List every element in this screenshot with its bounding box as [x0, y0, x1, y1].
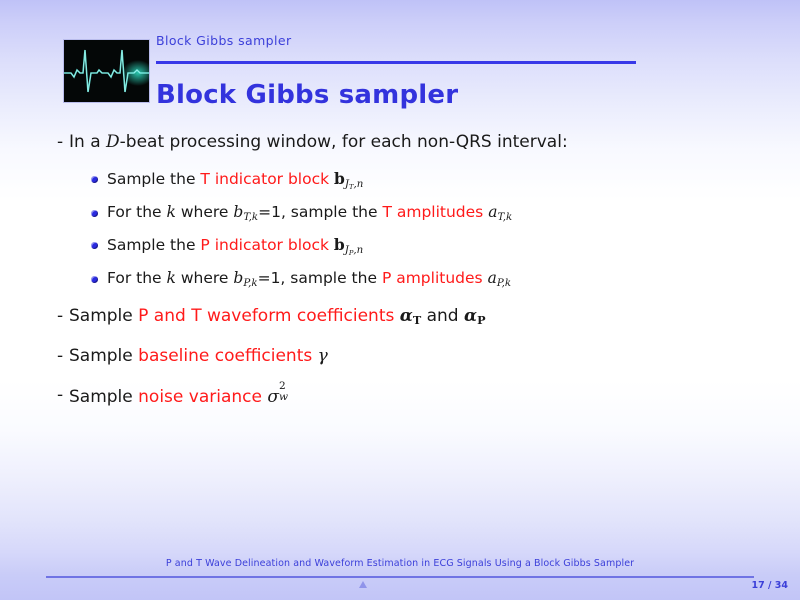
dash-marker: -: [57, 346, 63, 367]
list-item-text: For the k where bP,k=1, sample the P amp…: [91, 269, 511, 289]
intro-var-d: D: [106, 132, 120, 152]
header-divider: [156, 61, 636, 64]
item4-sigma-scripts: 2w: [279, 385, 289, 402]
list-item-intro: - In a D-beat processing window, for eac…: [0, 132, 800, 153]
spacer: [0, 288, 800, 306]
item2-alpha-p-sub: P: [477, 314, 485, 328]
item2-pre: Sample: [69, 306, 138, 326]
triangle-up-icon[interactable]: [359, 581, 367, 588]
list-item-sample-p-indicator: Sample the P indicator block bJP,n: [0, 235, 800, 256]
dash-marker: -: [57, 385, 63, 406]
spacer: [0, 153, 800, 169]
ecg-waveform-logo: [63, 39, 150, 103]
list-item-text: Sample the T indicator block bJT,n: [91, 169, 363, 190]
sub3-pre: Sample the: [107, 236, 200, 254]
list-item-sample-p-amplitudes: For the k where bP,k=1, sample the P amp…: [0, 269, 800, 289]
sub4-mid: where: [176, 269, 233, 287]
spacer: [0, 256, 800, 269]
item4-sigma: σ: [267, 387, 279, 407]
list-item-text: Sample the P indicator block bJP,n: [91, 235, 363, 256]
sub4-eq: =1, sample the: [258, 269, 382, 287]
page-number: 17 / 34: [751, 580, 788, 591]
ecg-waveform-graphic: [64, 40, 149, 102]
sub4-var-k: k: [167, 269, 176, 287]
item3-gamma: γ: [318, 346, 328, 366]
item4-red: noise variance: [138, 387, 262, 407]
slide-footer: P and T Wave Delineation and Waveform Es…: [0, 554, 800, 600]
bullet-point-icon: [91, 276, 98, 283]
item2-red: P and T waveform coefficients: [138, 306, 394, 326]
sub2-red: T amplitudes: [382, 203, 483, 221]
item3-red: baseline coefficients: [138, 346, 312, 366]
spacer: [0, 190, 800, 203]
item4-sigma-sub: w: [279, 391, 288, 404]
sub4-symbol-b: b: [233, 269, 243, 287]
item4-pre: Sample: [69, 387, 138, 407]
sub1-red: T indicator block: [200, 170, 329, 188]
sub4-symbol-b-sub: P,k: [243, 278, 257, 289]
footer-divider: [46, 576, 754, 578]
intro-pre: In a: [69, 132, 106, 152]
item2-alpha-t-sub: T: [413, 314, 421, 328]
sub3-symbol-b: b: [334, 235, 345, 254]
item2-and: and: [421, 306, 464, 326]
page-title: Block Gibbs sampler: [156, 80, 458, 110]
item2-alpha-p: α: [464, 306, 477, 326]
list-item-text: Sample baseline coefficients γ: [57, 346, 328, 367]
sub1-symbol-b: b: [334, 169, 345, 188]
list-item-text: For the k where bT,k=1, sample the T amp…: [91, 203, 512, 223]
sub3-red: P indicator block: [200, 236, 329, 254]
item3-pre: Sample: [69, 346, 138, 366]
list-item-text: In a D-beat processing window, for each …: [57, 132, 568, 153]
sub2-var-k: k: [167, 203, 176, 221]
sub2-symbol-b-sub: T,k: [243, 212, 258, 223]
footer-paper-title: P and T Wave Delineation and Waveform Es…: [166, 558, 634, 569]
list-item-waveform-coefficients: - Sample P and T waveform coefficients α…: [0, 306, 800, 327]
list-item-sample-t-amplitudes: For the k where bT,k=1, sample the T amp…: [0, 203, 800, 223]
sub4-symbol-a: a: [488, 269, 497, 287]
sub4-pre: For the: [107, 269, 167, 287]
list-item-noise-variance: - Sample noise variance σ2w: [0, 385, 800, 408]
presentation-slide: Block Gibbs sampler Block Gibbs sampler …: [0, 0, 800, 600]
sub2-mid: where: [176, 203, 233, 221]
sub2-pre: For the: [107, 203, 167, 221]
spacer: [0, 328, 800, 346]
bullet-point-icon: [91, 210, 98, 217]
dash-marker: -: [57, 306, 63, 327]
list-item-text: Sample P and T waveform coefficients αT …: [57, 306, 486, 327]
list-item-baseline-coefficients: - Sample baseline coefficients γ: [0, 346, 800, 367]
sub2-symbol-a-sub: T,k: [497, 212, 512, 223]
list-item-text: Sample noise variance σ2w: [57, 385, 289, 408]
slide-header: Block Gibbs sampler Block Gibbs sampler: [0, 0, 800, 118]
spacer: [0, 222, 800, 235]
dash-marker: -: [57, 132, 63, 153]
sub4-symbol-a-sub: P,k: [497, 278, 511, 289]
intro-post: -beat processing window, for each non-QR…: [120, 132, 568, 152]
slide-body: - In a D-beat processing window, for eac…: [0, 132, 800, 409]
item2-alpha-t: α: [400, 306, 413, 326]
sub3-sub-n: ,n: [353, 245, 363, 256]
list-item-sample-t-indicator: Sample the T indicator block bJT,n: [0, 169, 800, 190]
sub2-eq: =1, sample the: [258, 203, 382, 221]
sub2-symbol-b: b: [233, 203, 243, 221]
spacer: [0, 367, 800, 385]
sub1-pre: Sample the: [107, 170, 200, 188]
header-small-title: Block Gibbs sampler: [156, 33, 291, 48]
sub4-red: P amplitudes: [382, 269, 483, 287]
sub1-sub-n: ,n: [354, 179, 364, 190]
